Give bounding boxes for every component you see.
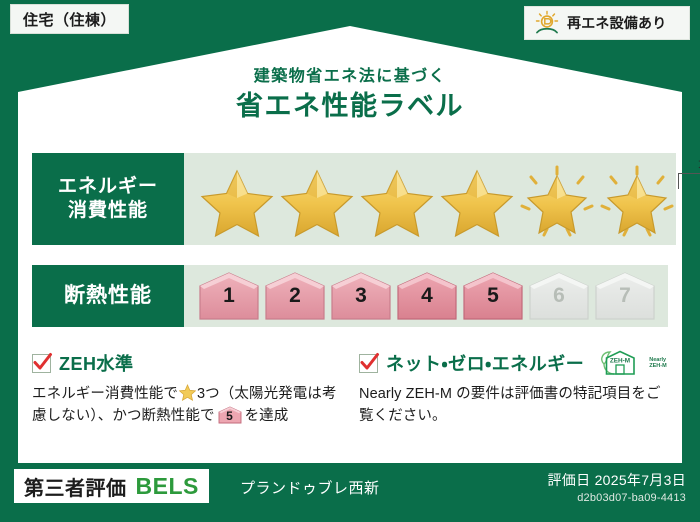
evaluation-date: 評価日 2025年7月3日 xyxy=(547,470,686,490)
zeh-checkbox xyxy=(32,354,51,373)
energy-label-line1: エネルギー xyxy=(58,175,158,199)
energy-star-rating xyxy=(184,165,676,239)
solar-sun-icon xyxy=(533,10,561,36)
insulation-grade-number: 4 xyxy=(396,285,458,306)
insulation-grade-number: 6 xyxy=(528,285,590,306)
solar-annotation-caption: 太陽光発電(自家消費)分 xyxy=(668,155,700,171)
energy-performance-label: 住宅（住棟） 再エネ設備あり 建築物省エネ法に基づく 省エネ性能ラベル xyxy=(0,0,700,522)
inline-grade-number: 5 xyxy=(218,410,242,422)
star-icon xyxy=(438,165,516,239)
insulation-grade-badge: 1 xyxy=(198,271,260,321)
zeh-m-caption-line1: Nearly xyxy=(649,357,666,363)
energy-performance-body: 太陽光発電(自家消費)分 xyxy=(184,153,676,245)
star-icon xyxy=(358,165,436,239)
insulation-grade-number: 2 xyxy=(264,285,326,306)
inline-grade-badge: 5 xyxy=(218,406,242,424)
insulation-label: 断熱性能 xyxy=(64,283,152,309)
zeh-m-logo-icon: ZEH-M xyxy=(594,348,640,378)
label-title: 省エネ性能ラベル xyxy=(0,84,700,123)
insulation-grade-badge-inactive: 7 xyxy=(594,271,656,321)
insulation-grade-number: 5 xyxy=(462,285,524,306)
insulation-performance-body: 1 2 xyxy=(184,265,668,327)
insulation-grade-badge: 2 xyxy=(264,271,326,321)
insulation-grade-badge: 4 xyxy=(396,271,458,321)
zeh-m-caption-line2: ZEH-M xyxy=(649,363,666,369)
star-icon-solar xyxy=(518,165,596,239)
insulation-grade-badge-achieved: 5 xyxy=(462,271,524,321)
insulation-grade-scale: 1 2 xyxy=(184,271,656,321)
renewable-equipment-badge: 再エネ設備あり xyxy=(524,6,690,40)
criteria-zeh: ZEH水準 エネルギー消費性能で3つ（太陽光発電は考慮しない）、かつ断熱性能で5… xyxy=(32,350,341,440)
star-icon xyxy=(198,165,276,239)
third-party-label: 第三者評価 xyxy=(24,472,127,501)
criteria-net-zero: ネット・ゼロ・エネルギー ZEH-M Nearly ZEH-M Nearly Z… xyxy=(359,350,668,440)
energy-label-line2: 消費性能 xyxy=(68,199,148,223)
zeh-description: エネルギー消費性能で3つ（太陽光発電は考慮しない）、かつ断熱性能で5を達成 xyxy=(32,383,341,428)
zeh-text-c: を達成 xyxy=(245,408,289,424)
bottom-white-strip xyxy=(18,443,682,463)
insulation-performance-row: 断熱性能 1 xyxy=(32,265,668,327)
bels-certification-box: 第三者評価 BELS xyxy=(14,469,209,503)
insulation-grade-badge: 3 xyxy=(330,271,392,321)
insulation-grade-number: 7 xyxy=(594,285,656,306)
criteria-section: ZEH水準 エネルギー消費性能で3つ（太陽光発電は考慮しない）、かつ断熱性能で5… xyxy=(32,350,668,440)
dwelling-type-label: 住宅（住棟） xyxy=(23,9,116,30)
dwelling-type-tab: 住宅（住棟） xyxy=(10,4,129,34)
net-zero-checkbox xyxy=(359,354,378,373)
label-subtitle: 建築物省エネ法に基づく xyxy=(0,62,700,86)
solar-annotation-bracket xyxy=(678,173,700,189)
zeh-text-a: エネルギー消費性能で xyxy=(32,386,178,402)
svg-text:ZEH-M: ZEH-M xyxy=(610,358,630,365)
insulation-performance-label-box: 断熱性能 xyxy=(32,265,184,327)
renewable-badge-label: 再エネ設備あり xyxy=(567,13,666,33)
energy-performance-label-box: エネルギー 消費性能 xyxy=(32,153,184,245)
insulation-grade-badge-inactive: 6 xyxy=(528,271,590,321)
zeh-title: ZEH水準 xyxy=(59,350,134,376)
energy-performance-row: エネルギー 消費性能 太陽光発電(自家消費)分 xyxy=(32,153,668,245)
criteria-net-zero-header: ネット・ゼロ・エネルギー ZEH-M Nearly ZEH-M xyxy=(359,350,668,376)
building-name: プランドゥブレ西新 xyxy=(240,477,380,498)
net-zero-description: Nearly ZEH-M の要件は評価書の特記項目をご覧ください。 xyxy=(359,383,668,428)
insulation-grade-number: 3 xyxy=(330,285,392,306)
star-icon xyxy=(278,165,356,239)
criteria-zeh-header: ZEH水準 xyxy=(32,350,341,376)
star-icon-solar xyxy=(598,165,676,239)
inline-star-icon xyxy=(179,384,196,401)
evaluation-id: d2b03d07-ba09-4413 xyxy=(577,492,686,504)
zeh-m-logo-caption: Nearly ZEH-M xyxy=(649,357,666,370)
insulation-grade-number: 1 xyxy=(198,285,260,306)
net-zero-title: ネット・ゼロ・エネルギー xyxy=(386,350,584,376)
bels-mark: BELS xyxy=(136,473,199,500)
